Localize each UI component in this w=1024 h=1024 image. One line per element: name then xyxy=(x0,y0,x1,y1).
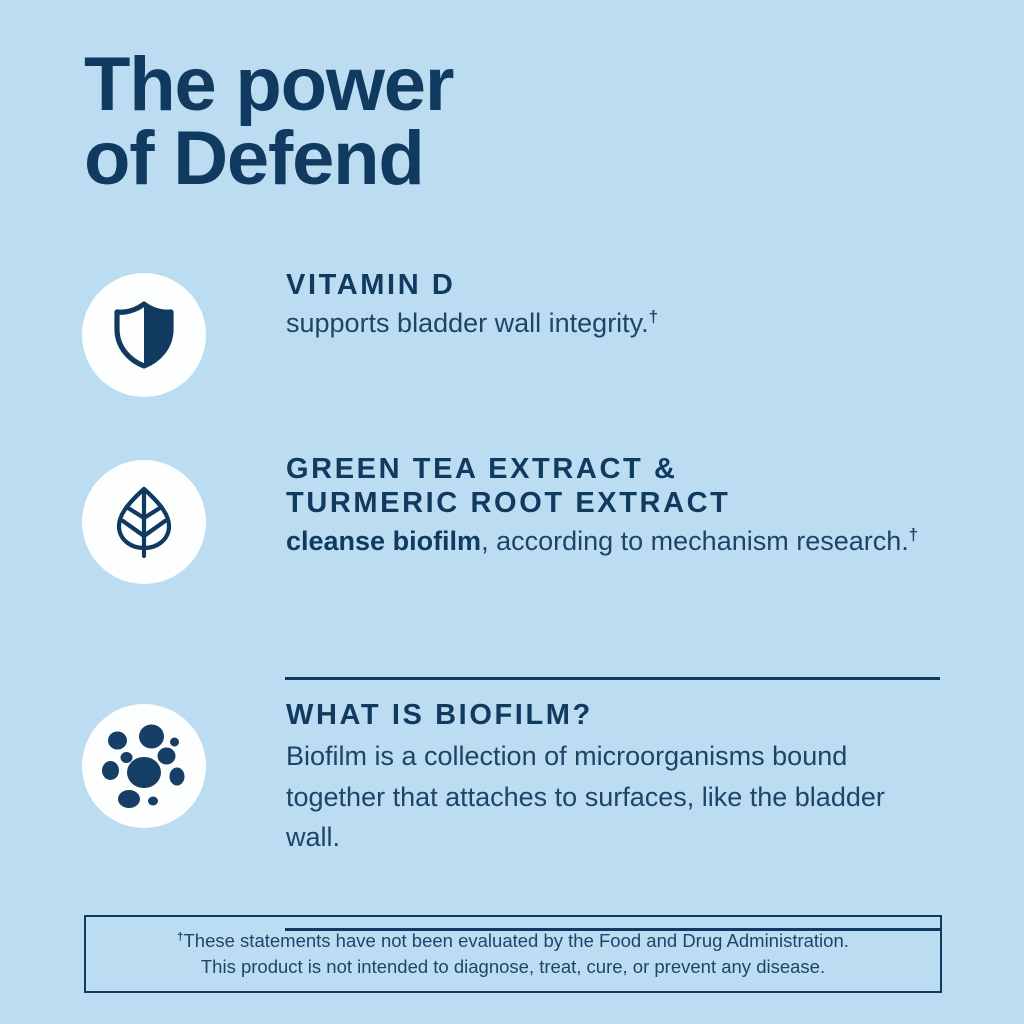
leaf-icon xyxy=(112,485,176,559)
benefit-title-line-1: WHAT IS BIOFILM? xyxy=(286,698,940,732)
benefit-title: WHAT IS BIOFILM? xyxy=(286,698,940,732)
benefit-description: supports bladder wall integrity.† xyxy=(286,306,940,341)
benefit-title: GREEN TEA EXTRACT & TURMERIC ROOT EXTRAC… xyxy=(286,452,940,520)
benefit-description-lead: cleanse biofilm xyxy=(286,526,481,556)
footnote-marker: † xyxy=(909,525,918,544)
page-title-line-1: The power xyxy=(84,48,704,122)
biofilm-icon-badge xyxy=(82,704,206,828)
disclaimer-line-2: This product is not intended to diagnose… xyxy=(201,954,825,980)
leaf-icon-badge xyxy=(82,460,206,584)
page-title-line-2: of Defend xyxy=(84,122,704,196)
shield-icon-badge xyxy=(82,273,206,397)
benefit-text-biofilm: WHAT IS BIOFILM? Biofilm is a collection… xyxy=(286,698,1024,858)
benefit-row-vitamin-d: VITAMIN D supports bladder wall integrit… xyxy=(0,268,1024,341)
benefit-title: VITAMIN D xyxy=(286,268,940,302)
disclaimer-line-1: †These statements have not been evaluate… xyxy=(177,928,849,954)
benefit-title-line-2: TURMERIC ROOT EXTRACT xyxy=(286,486,940,520)
shield-icon xyxy=(113,301,175,369)
benefit-text-vitamin-d: VITAMIN D supports bladder wall integrit… xyxy=(286,268,1024,341)
benefit-title-line-1: GREEN TEA EXTRACT & xyxy=(286,452,940,486)
benefit-description-text: , according to mechanism research. xyxy=(481,526,909,556)
benefit-description-text: supports bladder wall integrity. xyxy=(286,308,649,338)
section-divider xyxy=(285,677,940,680)
biofilm-icon xyxy=(96,718,192,814)
benefit-row-biofilm: WHAT IS BIOFILM? Biofilm is a collection… xyxy=(0,698,1024,858)
poster-canvas: The power of Defend VITAMIN D xyxy=(0,0,1024,1024)
disclaimer-line-1-text: These statements have not been evaluated… xyxy=(184,930,849,951)
benefit-title-line-1: VITAMIN D xyxy=(286,268,940,302)
page-title: The power of Defend xyxy=(84,48,704,197)
footnote-marker: † xyxy=(649,307,658,326)
benefit-description: Biofilm is a collection of microorganism… xyxy=(286,736,940,858)
benefit-description: cleanse biofilm, according to mechanism … xyxy=(286,524,940,559)
benefit-row-extracts: GREEN TEA EXTRACT & TURMERIC ROOT EXTRAC… xyxy=(0,452,1024,560)
benefit-text-extracts: GREEN TEA EXTRACT & TURMERIC ROOT EXTRAC… xyxy=(286,452,1024,560)
disclaimer-box: †These statements have not been evaluate… xyxy=(84,915,942,993)
